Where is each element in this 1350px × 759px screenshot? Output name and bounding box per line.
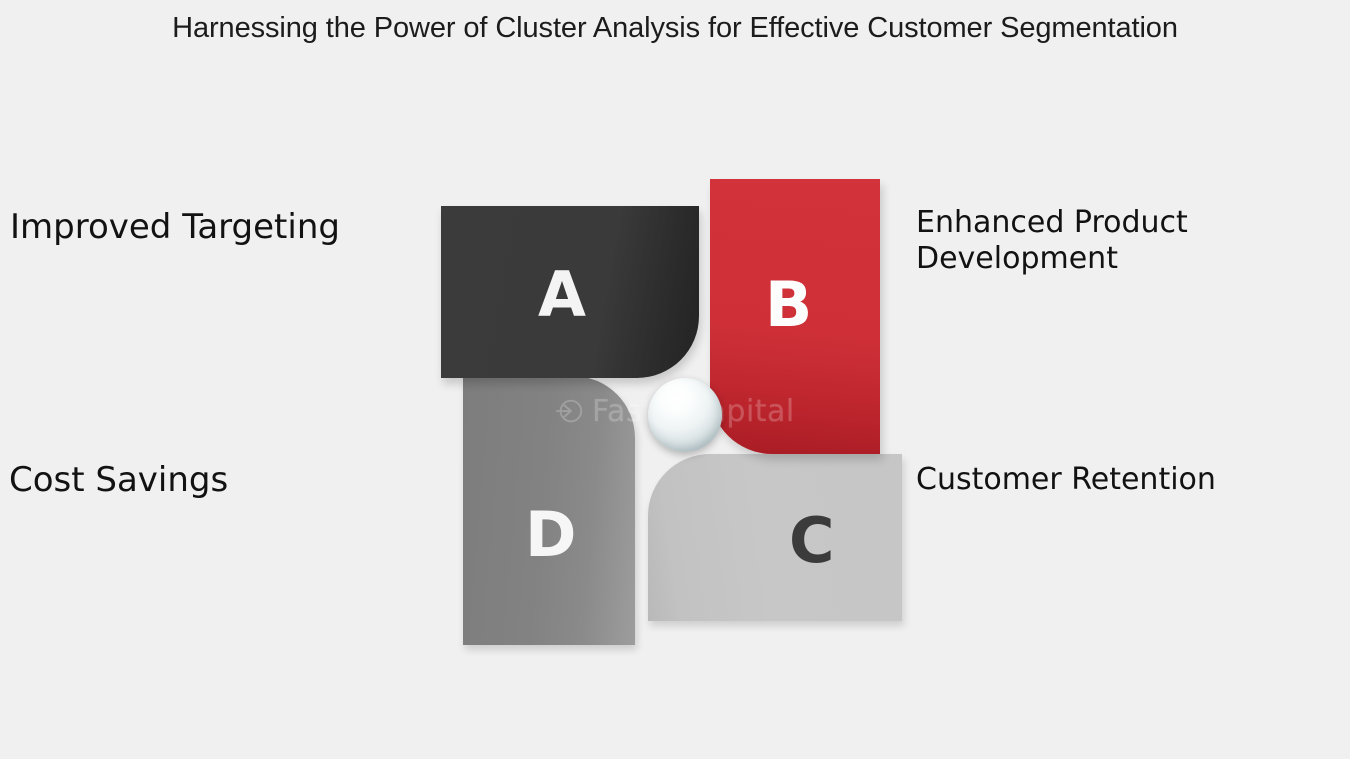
quadrant-letter-d: D — [525, 504, 576, 566]
label-improved-targeting: Improved Targeting — [10, 207, 340, 248]
slide-canvas: Harnessing the Power of Cluster Analysis… — [0, 0, 1350, 759]
center-sphere-icon — [648, 378, 722, 452]
page-title: Harnessing the Power of Cluster Analysis… — [0, 12, 1350, 45]
pinwheel-diagram: A B C D FasterCapital — [430, 160, 930, 660]
label-cost-savings: Cost Savings — [9, 460, 228, 501]
label-customer-retention: Customer Retention — [916, 462, 1216, 498]
label-enhanced-product-development: Enhanced Product Development — [916, 205, 1236, 277]
quadrant-block-a[interactable]: A — [441, 206, 699, 378]
quadrant-letter-b: B — [765, 274, 812, 336]
quadrant-letter-c: C — [789, 510, 835, 572]
quadrant-block-c[interactable]: C — [648, 454, 902, 621]
quadrant-block-d[interactable]: D — [463, 376, 635, 645]
quadrant-block-b[interactable]: B — [710, 179, 880, 454]
quadrant-letter-a: A — [538, 264, 586, 326]
